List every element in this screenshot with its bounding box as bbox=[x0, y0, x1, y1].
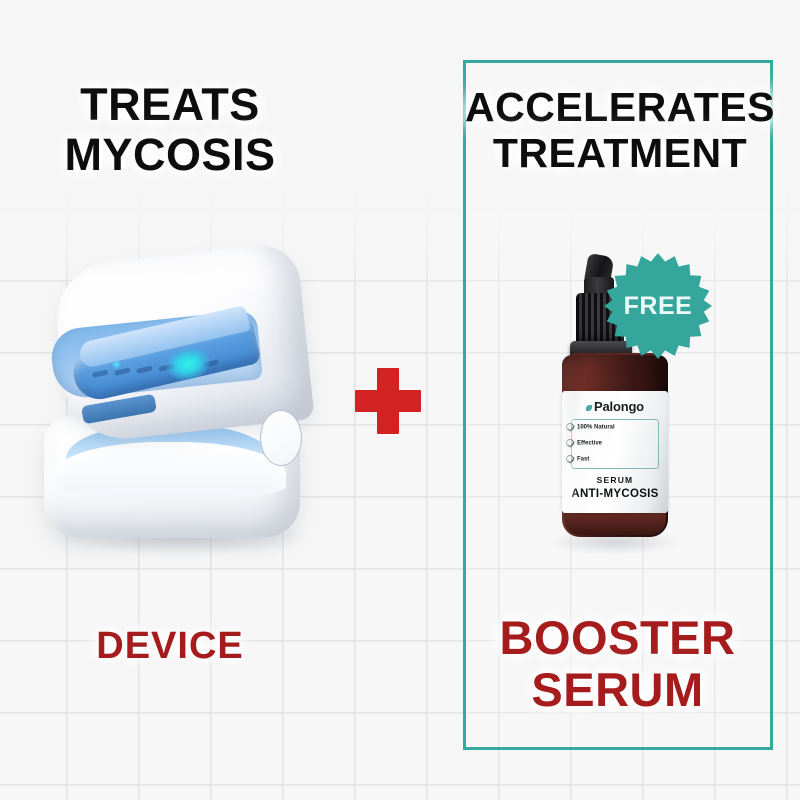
plus-sign-icon bbox=[355, 368, 421, 434]
brand-name-text: Palongo bbox=[594, 399, 644, 414]
device-indicator-led bbox=[112, 360, 121, 369]
promo-image: Palongo 100% Natural Effective Fast SERU… bbox=[0, 0, 800, 800]
free-badge-label: FREE bbox=[604, 252, 712, 360]
leaf-icon bbox=[586, 405, 592, 411]
label-gloss bbox=[562, 391, 578, 513]
free-badge: FREE bbox=[604, 252, 712, 360]
device-power-button[interactable] bbox=[260, 410, 302, 466]
device-base-lip bbox=[54, 442, 286, 498]
bottle-label: Palongo 100% Natural Effective Fast SERU… bbox=[562, 391, 668, 513]
caption-device: DEVICE bbox=[20, 626, 320, 668]
caption-serum: BOOSTERSERUM bbox=[465, 612, 770, 715]
laser-therapy-device-image bbox=[38, 248, 328, 560]
headline-left: TREATSMYCOSIS bbox=[10, 80, 330, 181]
headline-right: ACCELERATESTREATMENT bbox=[455, 85, 785, 177]
